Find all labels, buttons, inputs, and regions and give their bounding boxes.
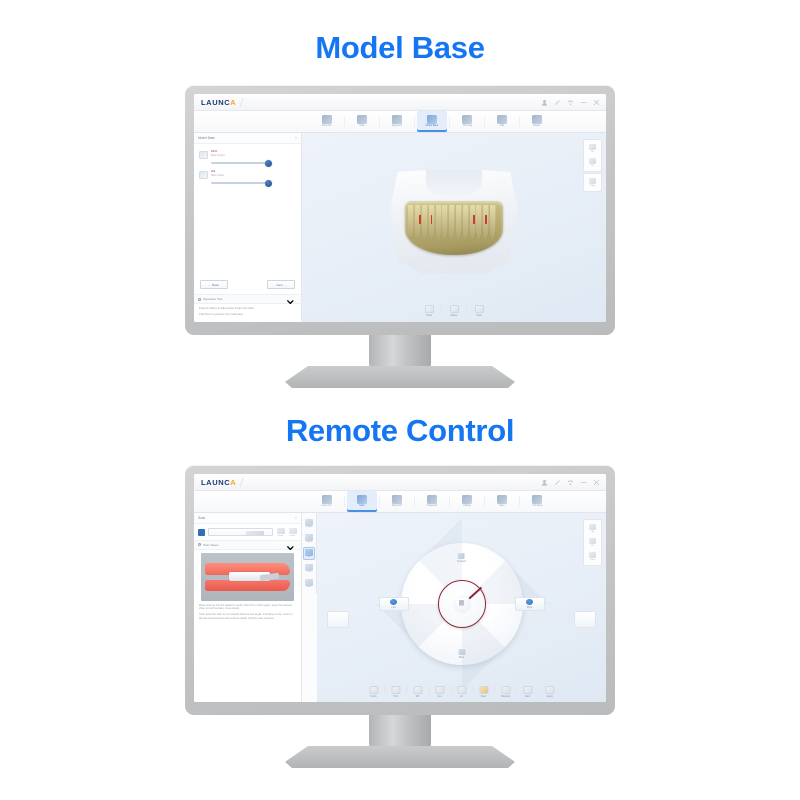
tab-editing[interactable]: Editing	[452, 491, 482, 512]
toolbar-divider	[519, 116, 520, 127]
base-notch	[426, 170, 482, 197]
logo-text: LAUNC	[201, 478, 230, 487]
radial-center-button[interactable]: Scan	[453, 595, 471, 613]
strip-item-more[interactable]: More	[303, 577, 315, 590]
trimming-icon	[462, 115, 472, 124]
item-label: More	[307, 586, 312, 588]
tab-checking[interactable]: Checking	[522, 491, 552, 512]
tooth	[408, 205, 414, 239]
viewport-3d[interactable]: Up Fit Play	[302, 133, 606, 322]
alignment-icon	[392, 115, 402, 124]
button-label: View	[476, 314, 482, 317]
tooth	[449, 205, 455, 239]
model-base-plate	[390, 170, 518, 274]
slider-wrap: 10.0 Base Height	[211, 150, 296, 157]
radial-pill-right[interactable]: Right	[515, 597, 545, 611]
toolbar-divider	[344, 116, 345, 127]
view-icon	[475, 305, 484, 313]
radial-node-left[interactable]: Left	[390, 599, 397, 609]
toolbar-divider	[466, 305, 467, 313]
checking-icon	[532, 495, 542, 504]
tips-paragraph: Click Next to generate the model base.	[199, 313, 296, 317]
toolbar-divider	[484, 496, 485, 507]
main-toolbar: Case Info Scan Alignment	[194, 111, 606, 133]
apply-button[interactable]: Apply	[541, 686, 558, 698]
slider-base-height: 10.0 Base Height	[194, 144, 301, 159]
page-root: Model Base LAUNCA	[0, 0, 800, 800]
button-label: Play	[590, 185, 594, 187]
tab-scan[interactable]: Scan	[347, 111, 377, 132]
tab-label: Treatment	[427, 505, 438, 507]
button-label: Back	[212, 283, 218, 287]
fill-icon	[413, 686, 422, 694]
toolbar-divider	[538, 686, 539, 694]
panel-title: Scan	[198, 516, 205, 520]
panel-title: Model Base	[198, 136, 215, 140]
slider-label: Base Height	[211, 154, 296, 158]
tab-label: Edit	[500, 125, 504, 127]
toolbar-divider	[449, 496, 450, 507]
toolbar-divider	[472, 686, 473, 694]
upper-arch-icon	[305, 519, 313, 526]
apply-icon	[545, 686, 554, 694]
toolbar-divider	[428, 686, 429, 694]
tab-alignment[interactable]: Alignment	[382, 111, 412, 132]
tab-label: Case Info	[322, 505, 332, 507]
edit-pencil-icon[interactable]	[554, 479, 561, 486]
tooth	[490, 205, 496, 239]
back-button[interactable]: ‹ Back	[200, 280, 228, 289]
lower-arch-icon	[305, 534, 313, 541]
view-tools-panel: Up Fit	[583, 139, 602, 172]
export-icon	[532, 115, 542, 124]
center-label: Scan	[459, 605, 464, 607]
logo-divider	[240, 478, 244, 487]
radial-node-right[interactable]: Right	[526, 599, 533, 609]
base-offset-slider[interactable]	[211, 182, 269, 184]
zoom-fit-button[interactable]: Fit	[586, 156, 599, 169]
play-icon	[589, 178, 596, 184]
button-label: Start	[481, 695, 486, 698]
left-panel: Model Base × 10.0 Base Height	[194, 133, 302, 322]
button-label: Undo	[426, 314, 432, 317]
account-icon[interactable]	[541, 99, 548, 106]
view-tools-panel: Up Fit Cam	[583, 519, 602, 566]
zoom-fit-icon	[589, 158, 596, 164]
dental-model-3d[interactable]	[390, 170, 518, 274]
case-info-icon	[322, 495, 332, 504]
operation-tips-header[interactable]: Operation Tips ⌄	[194, 294, 301, 304]
start-button[interactable]: Start	[475, 686, 492, 698]
info-bullet-icon	[198, 298, 201, 301]
node-label: Back	[459, 656, 464, 659]
undo-icon	[425, 305, 434, 313]
preop-icon	[305, 564, 313, 571]
help-paragraph: Note: keep the scan tip at a steady dist…	[199, 613, 296, 621]
tab-label: Case Info	[322, 125, 332, 127]
tooth	[422, 205, 428, 239]
monitor-bezel: LAUNCA C	[185, 465, 615, 715]
treatment-icon	[427, 495, 437, 504]
more-icon	[305, 579, 313, 586]
button-label: Upper	[278, 535, 284, 537]
tab-label: Scan	[359, 505, 364, 507]
panel-close-icon[interactable]: ×	[295, 516, 297, 520]
toolbar-divider	[344, 496, 345, 507]
right-icon	[526, 599, 533, 605]
radial-control-menu[interactable]: Scan Forward Back	[401, 543, 523, 665]
scan-help-body: Place scan tip into the patient's mouth.…	[194, 601, 301, 627]
app-logo: LAUNCA	[198, 478, 236, 487]
toolbar-divider	[441, 305, 442, 313]
margin-marker	[431, 215, 433, 224]
strip-item-upper[interactable]: Upper	[303, 517, 315, 530]
tab-label: Export	[534, 125, 541, 127]
arch-selector-strip: Upper Lower Bite	[302, 513, 317, 594]
wifi-icon[interactable]	[567, 99, 574, 106]
save-icon	[497, 495, 507, 504]
restore-icon	[501, 686, 510, 694]
toolbar-divider	[494, 686, 495, 694]
operation-tips-body: Drag the sliders to adjust base height a…	[194, 304, 301, 322]
monitor-screen: LAUNCA	[194, 94, 606, 322]
reset-button[interactable]: Reset	[445, 305, 463, 317]
tab-case-info[interactable]: Case Info	[312, 111, 342, 132]
camera-button[interactable]: Cam	[586, 550, 599, 563]
logo-accent: A	[230, 478, 236, 487]
scan-icon	[357, 115, 367, 124]
view-up-icon	[589, 524, 596, 530]
trim-button[interactable]: Trim	[387, 686, 404, 698]
button-label: Next	[277, 283, 283, 287]
tab-treatment[interactable]: Treatment	[417, 491, 447, 512]
undo-icon	[369, 686, 378, 694]
logo-text: LAUNC	[201, 98, 230, 107]
toolbar-divider	[484, 116, 485, 127]
toolbar-divider	[414, 116, 415, 127]
logo-accent: A	[230, 98, 236, 107]
alignment-icon	[392, 495, 402, 504]
button-label: Up	[591, 531, 594, 533]
monitor-stand-base	[285, 366, 515, 388]
zoom-fit-icon	[589, 538, 596, 544]
chevron-right-icon: ›	[284, 283, 285, 287]
panel-close-icon[interactable]: ×	[295, 136, 297, 140]
slider-base-offset: 3.0 Base Offset	[194, 164, 301, 179]
view-up-icon	[589, 144, 596, 150]
scan-steps-header[interactable]: Scan Steps ⌄	[194, 540, 301, 550]
toolbar-divider	[516, 686, 517, 694]
ai-button[interactable]: AI	[453, 686, 470, 698]
app-body: Model Base × 10.0 Base Height	[194, 133, 606, 322]
button-label: Undo	[370, 695, 376, 698]
button-label: Apply	[546, 695, 553, 698]
item-label: Bite	[307, 556, 310, 558]
toolbar-divider	[414, 496, 415, 507]
button-label: Restore	[501, 695, 510, 698]
right-side-card	[574, 611, 596, 628]
slider-label: Base Offset	[211, 174, 296, 178]
viewport-remote[interactable]: Scan Forward Back	[317, 513, 606, 702]
slider-knob[interactable]	[265, 180, 272, 187]
ai-icon	[457, 686, 466, 694]
left-icon	[390, 599, 397, 605]
margin-marker	[473, 215, 475, 224]
app-logo: LAUNCA	[198, 98, 236, 107]
left-side-card	[327, 611, 349, 628]
button-label: Next	[525, 695, 530, 698]
account-icon[interactable]	[541, 479, 548, 486]
heading-remote-control: Remote Control	[0, 413, 800, 449]
edit-icon	[497, 115, 507, 124]
tab-export[interactable]: Export	[522, 111, 552, 132]
lower-jaw-icon	[289, 528, 297, 534]
undo-button[interactable]: Undo	[365, 686, 382, 698]
chevron-left-icon: ‹	[209, 283, 210, 287]
margin-marker	[485, 215, 487, 224]
bite-icon	[305, 549, 313, 556]
left-panel: Scan × Upper	[194, 513, 302, 702]
strip-item-lower[interactable]: Lower	[303, 532, 315, 545]
button-label: Reset	[451, 314, 458, 317]
restore-button[interactable]: Restore	[497, 686, 514, 698]
tooth	[442, 205, 448, 239]
node-label: Forward	[457, 560, 466, 563]
wifi-icon[interactable]	[567, 479, 574, 486]
tab-save[interactable]: Save	[487, 491, 517, 512]
button-label: AI	[460, 695, 462, 698]
monitor-stand-neck	[369, 715, 431, 749]
button-label: Fit	[591, 545, 593, 547]
base-height-icon	[199, 151, 208, 159]
playback-panel: Play	[583, 173, 602, 192]
info-bullet-icon	[198, 543, 201, 546]
titlebar: LAUNCA	[194, 474, 606, 491]
tab-edit[interactable]: Edit	[487, 111, 517, 132]
lower-jaw-shape	[205, 580, 291, 591]
reset-icon	[450, 305, 459, 313]
titlebar: LAUNCA	[194, 94, 606, 111]
forward-icon	[458, 553, 465, 559]
scan-progress-bar[interactable]	[208, 528, 273, 536]
app-window: LAUNCA C	[194, 474, 606, 702]
logo-divider	[240, 98, 244, 107]
slider-knob[interactable]	[265, 160, 272, 167]
cut-icon	[435, 686, 444, 694]
tooth	[476, 205, 482, 239]
tips-title-wrap: Operation Tips	[198, 297, 223, 301]
view-up-button[interactable]: Up	[586, 522, 599, 535]
button-label: Fill	[416, 695, 419, 698]
panel-spacer	[194, 184, 301, 280]
heading-model-base: Model Base	[0, 30, 800, 66]
tab-label: Checking	[532, 505, 542, 507]
help-paragraph: Place scan tip into the patient's mouth.…	[199, 604, 296, 612]
toolbar-divider	[379, 116, 380, 127]
minimize-icon[interactable]	[580, 99, 587, 106]
base-offset-icon	[199, 171, 208, 179]
button-label: Cam	[590, 559, 594, 561]
button-label: Fit	[591, 165, 593, 167]
item-label: Pre	[307, 571, 310, 573]
chevron-down-icon[interactable]: ⌄	[284, 535, 297, 555]
edit-pencil-icon[interactable]	[554, 99, 561, 106]
dental-arch	[405, 201, 502, 255]
tab-model-base[interactable]: Model Base	[417, 111, 447, 132]
tips-paragraph: Drag the sliders to adjust base height a…	[199, 307, 296, 311]
monitor-stand-neck	[369, 335, 431, 369]
tab-label: Trimming	[462, 125, 472, 127]
close-icon[interactable]	[593, 99, 600, 106]
viewport-bottom-toolbar: Undo Reset View	[420, 305, 488, 317]
tab-trimming[interactable]: Trimming	[452, 111, 482, 132]
strip-item-pre[interactable]: Pre	[303, 562, 315, 575]
view-button[interactable]: View	[470, 305, 488, 317]
tab-label: Scan	[359, 125, 364, 127]
tab-label: Alignment	[392, 505, 402, 507]
titlebar-icons	[541, 99, 602, 106]
tooth	[456, 205, 462, 239]
monitor-stand-base	[285, 746, 515, 768]
toolbar-divider	[384, 686, 385, 694]
radial-node-forward[interactable]: Forward	[457, 553, 466, 563]
item-label: Lower	[306, 541, 311, 543]
play-button[interactable]: Play	[586, 176, 599, 189]
base-height-slider[interactable]	[211, 162, 269, 164]
app-body: Scan × Upper	[194, 513, 606, 702]
main-toolbar: Case Info Scan Alignment	[194, 491, 606, 513]
view-up-button[interactable]: Up	[586, 142, 599, 155]
fill-button[interactable]: Fill	[409, 686, 426, 698]
node-label: Right	[527, 606, 533, 609]
monitor-screen: LAUNCA C	[194, 474, 606, 702]
margin-marker	[419, 215, 421, 224]
tooth	[463, 205, 469, 239]
panel-header: Scan ×	[194, 513, 301, 524]
trim-icon	[391, 686, 400, 694]
next-icon	[523, 686, 532, 694]
tab-label: Editing	[463, 505, 470, 507]
undo-button[interactable]: Undo	[420, 305, 438, 317]
tab-label: Save	[499, 505, 504, 507]
slider-wrap: 3.0 Base Offset	[211, 170, 296, 177]
back-icon	[458, 649, 465, 655]
panel-header: Model Base ×	[194, 133, 301, 144]
tooth	[436, 205, 442, 239]
toolbar-divider	[449, 116, 450, 127]
button-label: Up	[591, 151, 594, 153]
cut-button[interactable]: Cut	[431, 686, 448, 698]
tab-case-info[interactable]: Case Info	[312, 491, 342, 512]
start-icon	[479, 686, 488, 694]
item-label: Upper	[306, 526, 311, 528]
editing-icon	[462, 495, 472, 504]
upper-jaw-icon	[277, 528, 285, 534]
color-swatch-icon[interactable]	[198, 529, 205, 536]
toolbar-divider	[519, 496, 520, 507]
case-info-icon	[322, 115, 332, 124]
tips-title: Scan Steps	[203, 543, 218, 547]
radial-node-back[interactable]: Back	[458, 649, 465, 659]
toolbar-divider	[379, 496, 380, 507]
toolbar-divider	[450, 686, 451, 694]
minimize-icon[interactable]	[580, 479, 587, 486]
toolbar-divider	[406, 686, 407, 694]
node-label: Left	[392, 606, 396, 609]
next-button[interactable]: Next	[519, 686, 536, 698]
radial-pill-left[interactable]: Left	[379, 597, 409, 611]
titlebar-icons	[541, 479, 602, 486]
monitor-bezel: LAUNCA	[185, 85, 615, 335]
button-label: Trim	[393, 695, 398, 698]
camera-icon	[589, 552, 596, 558]
tab-label: Model Base	[426, 125, 438, 127]
button-label: Cut	[437, 695, 441, 698]
tips-title-wrap: Scan Steps	[198, 543, 218, 547]
zoom-fit-button[interactable]: Fit	[586, 536, 599, 549]
scanner-illustration	[201, 553, 294, 601]
scan-icon	[357, 495, 367, 504]
bottom-toolbar: Undo Trim Fill	[365, 686, 558, 698]
strip-item-bite[interactable]: Bite	[303, 547, 315, 560]
tab-alignment[interactable]: Alignment	[382, 491, 412, 512]
model-base-icon	[427, 115, 437, 124]
tips-title: Operation Tips	[203, 297, 223, 301]
app-window: LAUNCA	[194, 94, 606, 322]
close-icon[interactable]	[593, 479, 600, 486]
next-button[interactable]: Next ›	[267, 280, 295, 289]
tab-scan[interactable]: Scan	[347, 491, 377, 512]
tab-label: Alignment	[392, 125, 402, 127]
